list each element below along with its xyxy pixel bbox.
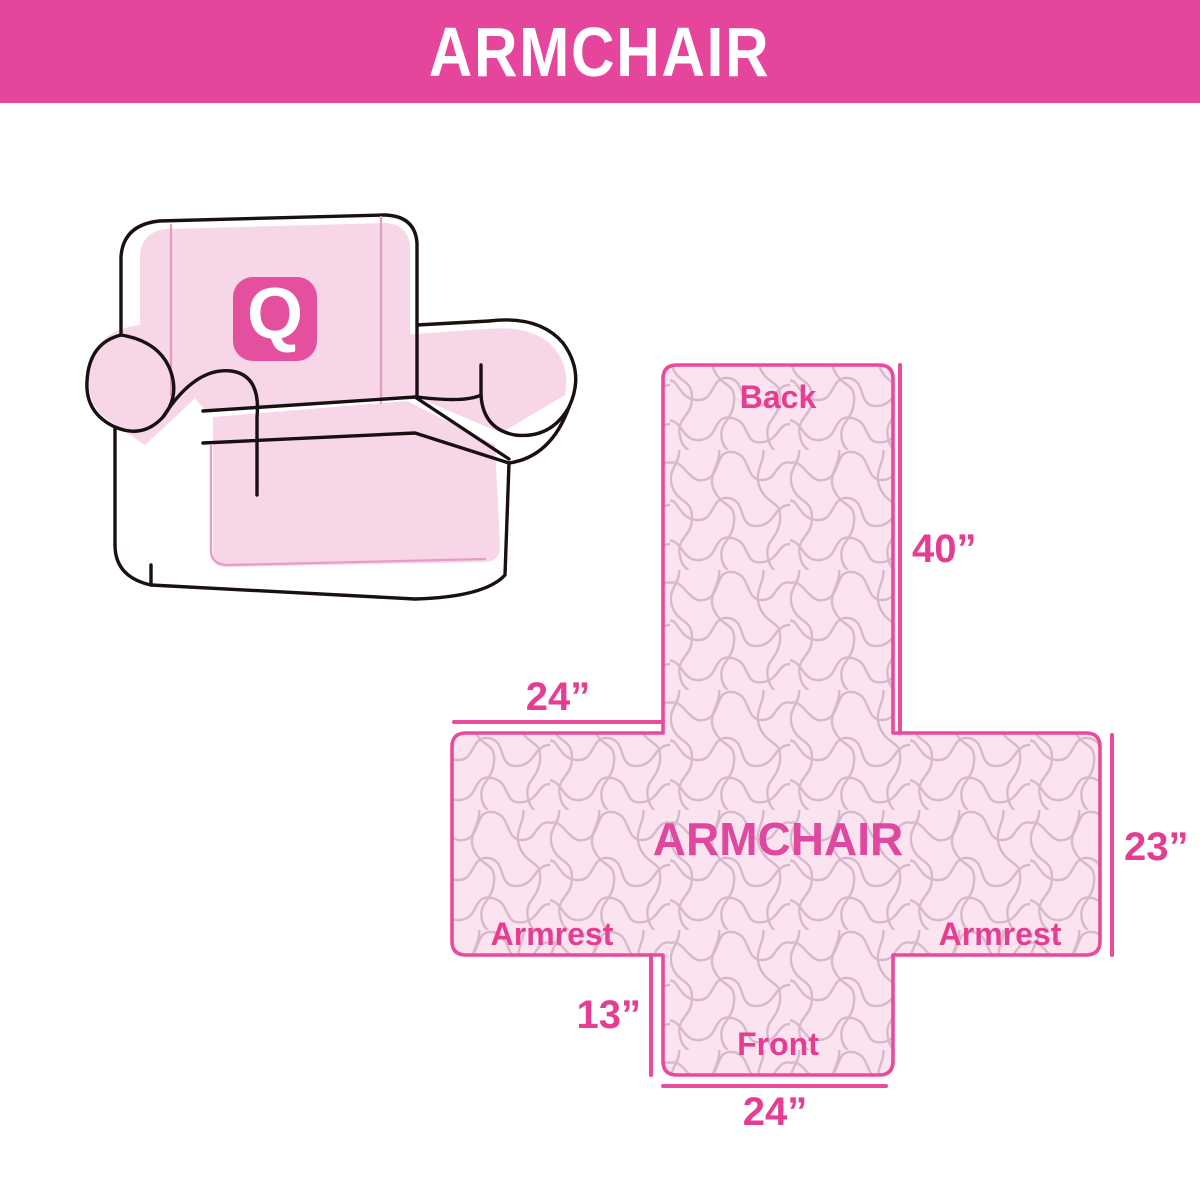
dimension-seat-depth: 23” [1112, 735, 1189, 955]
page-root: ARMCHAIR .ln { fill:none; stroke:#1a1012… [0, 0, 1200, 1200]
panel-label-front: Front [737, 1026, 819, 1062]
dimension-seat-depth-value: 23” [1124, 825, 1189, 869]
dimension-front-width: 24” [663, 1086, 886, 1134]
dimension-arm-top-width: 24” [454, 675, 663, 722]
dimension-front-width-value: 24” [743, 1090, 808, 1134]
dimension-back-height: 40” [900, 365, 977, 733]
panel-label-armrest-left: Armrest [491, 916, 614, 952]
dimension-front-height-value: 13” [577, 993, 642, 1037]
panel-label-center: ARMCHAIR [653, 813, 903, 865]
dimension-back-height-value: 40” [912, 527, 977, 571]
page-title: ARMCHAIR [429, 17, 770, 87]
dimension-arm-top-width-value: 24” [526, 675, 591, 719]
panel-label-armrest-right: Armrest [939, 916, 1062, 952]
dimension-front-height: 13” [577, 955, 652, 1075]
slipcover-cross-diagram: Back ARMCHAIR Armrest Armrest Front 40” … [430, 330, 1200, 1140]
chair-logo-badge: Q [233, 274, 317, 361]
panel-label-back: Back [740, 379, 817, 415]
header-bar: ARMCHAIR [0, 0, 1200, 103]
chair-logo-letter: Q [247, 274, 303, 354]
